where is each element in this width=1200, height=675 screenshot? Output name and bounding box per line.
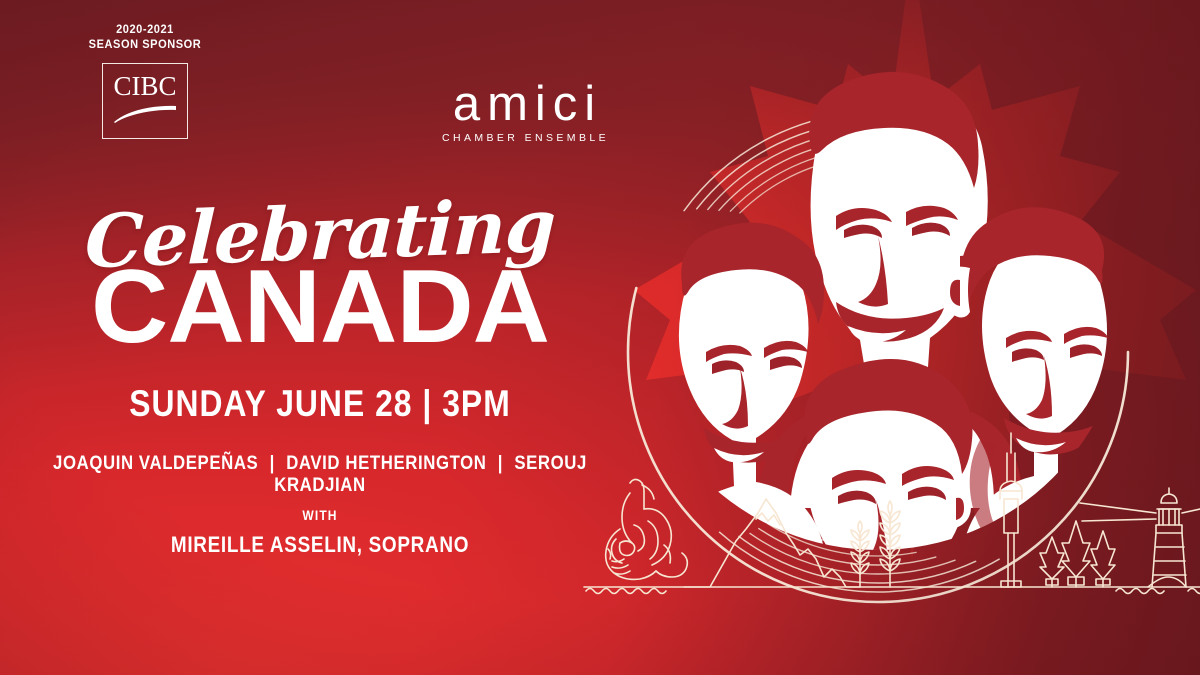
artist-separator: | — [492, 452, 509, 474]
artist-separator: | — [264, 452, 281, 474]
main-text-block: Celebrating CANADA SUNDAY JUNE 28 | 3PM … — [0, 196, 640, 558]
amici-tagline: CHAMBER ENSEMBLE — [424, 132, 624, 144]
sponsor-season-years: 2020-2021 — [67, 22, 223, 37]
cibc-logo: CIBC — [102, 63, 188, 139]
with-label: WITH — [45, 507, 595, 523]
cn-tower-icon — [1000, 433, 1022, 587]
amici-logo[interactable]: amici CHAMBER ENSEMBLE — [424, 80, 624, 144]
water-ripples-left — [586, 589, 666, 594]
amici-wordmark: amici — [424, 80, 624, 128]
pine-trees-icon — [1040, 521, 1115, 587]
soprano-credit: MIREILLE ASSELIN, SOPRANO — [45, 532, 595, 558]
artist-name: JOAQUIN VALDEPEÑAS — [53, 452, 258, 474]
artist-list: JOAQUIN VALDEPEÑAS | DAVID HETHERINGTON … — [45, 452, 595, 496]
cibc-swoosh-icon — [113, 105, 177, 128]
cibc-wordmark: CIBC — [113, 73, 176, 100]
canadian-landmarks-illustration — [560, 437, 1200, 617]
sponsor-role-label: SEASON SPONSOR — [67, 37, 223, 52]
wheat-stalks-icon — [851, 501, 900, 587]
mountain-icon — [684, 499, 860, 587]
artist-name: DAVID HETHERINGTON — [286, 452, 486, 474]
event-date-time: SUNDAY JUNE 28 | 3PM — [45, 384, 595, 424]
water-ripples-right — [1116, 589, 1200, 594]
poster-canvas: 2020-2021 SEASON SPONSOR CIBC amici CHAM… — [0, 0, 1200, 675]
page-title: CANADA — [0, 260, 650, 354]
season-sponsor-block: 2020-2021 SEASON SPONSOR CIBC — [60, 22, 230, 139]
